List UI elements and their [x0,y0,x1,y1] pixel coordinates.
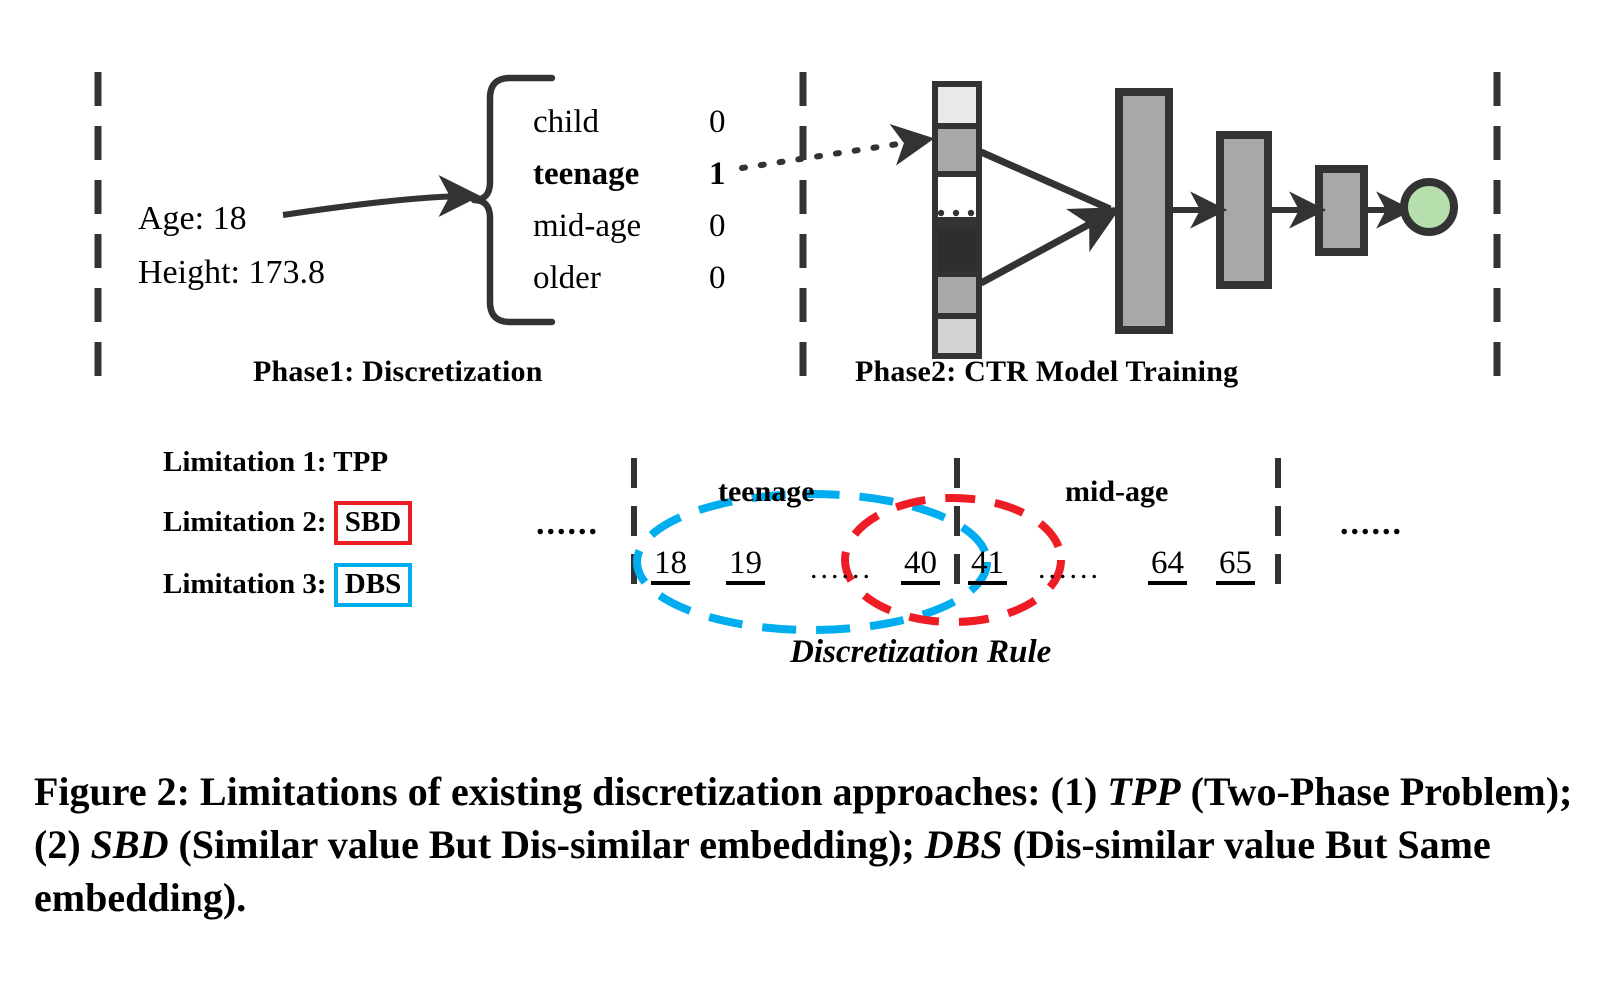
limitation-3-prefix: Limitation 3: [163,568,327,600]
embedding-block-top [935,84,979,220]
onehot-value-teenage: 1 [709,156,726,193]
edge-embed-bottom-to-mlp [981,213,1110,283]
rule-value-64: 64 [1148,545,1187,582]
onehot-label-teenage: teenage [533,156,639,193]
caption-tpp-abbr: TPP [1107,769,1180,814]
edge-embed-top-to-mlp [981,152,1110,209]
rule-value-41: 41 [968,545,1007,582]
onehot-value-mid-age: 0 [709,208,726,245]
figure-caption: Figure 2: Limitations of existing discre… [34,765,1589,925]
bin-label-teenage: teenage [718,475,815,509]
embedding-ellipsis-icon [938,210,974,216]
phase2-title: Phase2: CTR Model Training [855,355,1238,389]
onehot-value-child: 0 [709,104,726,141]
value-41: 41 [968,545,1007,585]
figure-2-root: Age: 18 Height: 173.8 child 0 teenage 1 … [0,0,1618,1000]
ctr-output-node [1404,182,1454,232]
rule-value-65: 65 [1216,545,1255,582]
embedding-block-bottom [935,226,979,356]
caption-sbd-abbr: SBD [91,822,169,867]
discretization-arrow [283,196,470,215]
limitation-1-prefix: Limitation 1: [163,446,327,478]
value-64: 64 [1148,545,1187,585]
onehot-label-mid-age: mid-age [533,208,641,245]
rule-ellipsis-right: ...... [1340,505,1403,543]
mlp-layer-3 [1319,169,1364,252]
rule-ellipsis-left: ...... [536,505,599,543]
limitation-3: Limitation 3: DBS [163,568,412,601]
value-18: 18 [651,545,690,585]
limitation-1-code: TPP [333,446,388,478]
discretization-rule-title: Discretization Rule [790,634,1051,671]
input-age: Age: 18 [138,200,247,238]
limitation-1: Limitation 1: TPP [163,446,388,479]
onehot-label-child: child [533,104,599,141]
caption-lead: Figure 2: Limitations of existing discre… [34,769,1107,814]
limitation-2-prefix: Limitation 2: [163,506,327,538]
onehot-to-embedding-arrow [742,140,924,168]
onehot-label-older: older [533,260,601,297]
phase1-title: Phase1: Discretization [253,355,543,389]
mlp-layer-2 [1220,135,1268,285]
limitation-3-code-box: DBS [334,563,412,607]
rule-value-19: 19 [726,545,765,582]
rule-inner-ellipsis-1: ...... [810,552,873,586]
input-height: Height: 173.8 [138,254,325,292]
limitation-2-code-box: SBD [334,501,412,545]
mlp-layer-1 [1119,92,1169,330]
value-65: 65 [1216,545,1255,585]
onehot-value-older: 0 [709,260,726,297]
caption-dbs-abbr: DBS [925,822,1003,867]
value-19: 19 [726,545,765,585]
limitation-2: Limitation 2: SBD [163,506,412,539]
rule-value-18: 18 [651,545,690,582]
caption-sbd-expand: (Similar value But Dis-similar embedding… [168,822,924,867]
rule-inner-ellipsis-2: ...... [1038,552,1101,586]
bin-label-mid-age: mid-age [1065,475,1168,509]
value-40: 40 [901,545,940,585]
rule-value-40: 40 [901,545,940,582]
